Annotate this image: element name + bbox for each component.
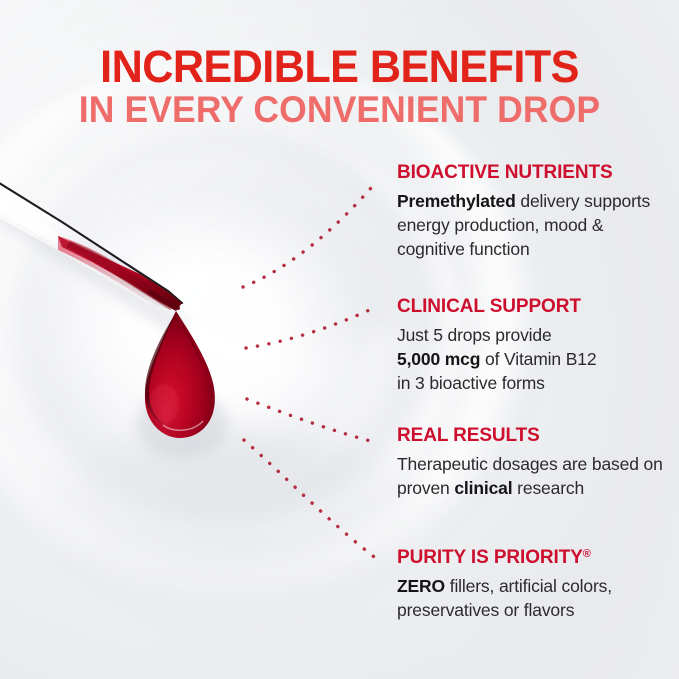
infographic-canvas: INCREDIBLE BENEFITS IN EVERY CONVENIENT … <box>0 0 679 679</box>
benefit-title: BIOACTIVE NUTRIENTS <box>397 158 665 184</box>
benefit-title-text: REAL RESULTS <box>397 425 540 446</box>
benefit-trademark: ® <box>583 548 591 560</box>
benefit-item-bioactive-nutrients: BIOACTIVE NUTRIENTS Premethylated delive… <box>397 158 665 261</box>
benefit-item-clinical-support: CLINICAL SUPPORT Just 5 drops provide5,0… <box>397 292 665 395</box>
benefit-title-text: CLINICAL SUPPORT <box>397 296 581 317</box>
benefit-title-text: PURITY IS PRIORITY <box>397 547 583 568</box>
benefit-item-purity-is-priority: PURITY IS PRIORITY® ZERO fillers, artifi… <box>397 543 665 622</box>
benefit-body: Premethylated delivery supports energy p… <box>397 189 665 261</box>
benefit-body: ZERO fillers, artificial colors, preserv… <box>397 574 665 622</box>
benefit-title-text: BIOACTIVE NUTRIENTS <box>397 162 613 183</box>
benefit-body: Just 5 drops provide5,000 mcg of Vitamin… <box>397 323 665 395</box>
benefits-list: BIOACTIVE NUTRIENTS Premethylated delive… <box>397 0 667 679</box>
benefit-body: Therapeutic dosages are based on proven … <box>397 452 665 500</box>
benefit-title: REAL RESULTS <box>397 421 665 447</box>
benefit-title: PURITY IS PRIORITY® <box>397 543 665 569</box>
benefit-item-real-results: REAL RESULTS Therapeutic dosages are bas… <box>397 421 665 500</box>
benefit-title: CLINICAL SUPPORT <box>397 292 665 318</box>
